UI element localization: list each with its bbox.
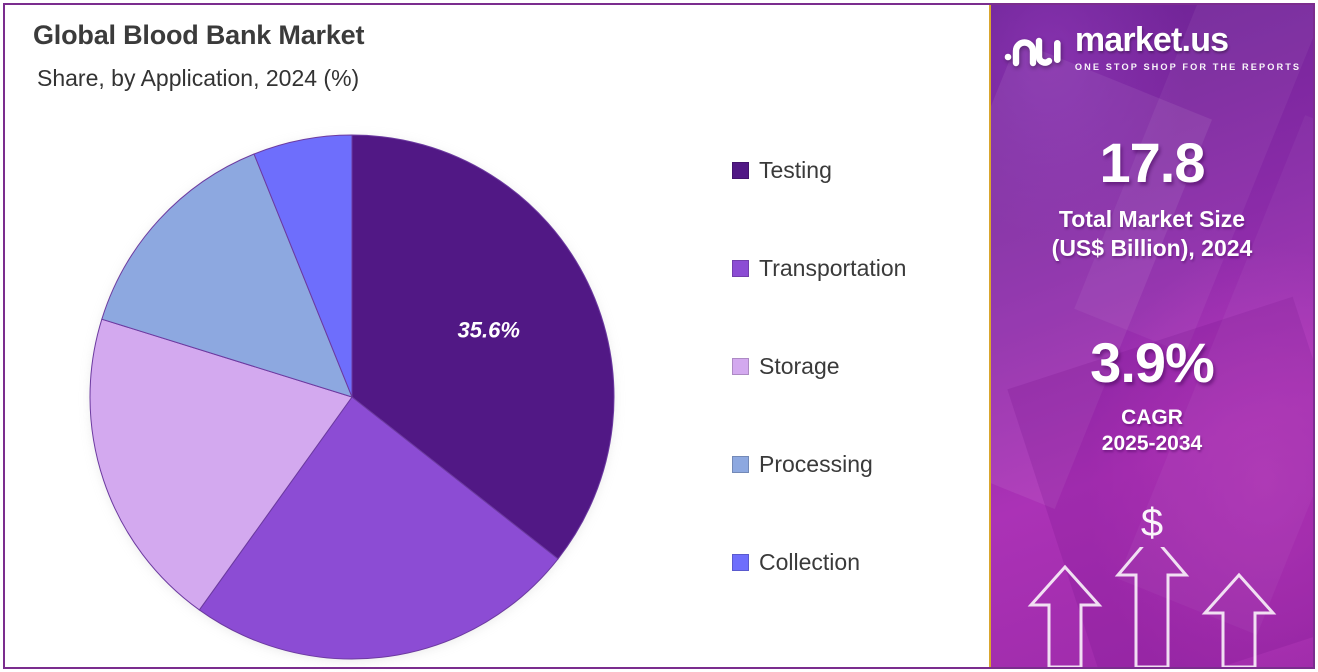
legend-item-storage[interactable]: Storage <box>732 353 982 379</box>
pie-svg: 35.6% <box>88 133 616 661</box>
market-size-caption-line1: Total Market Size <box>991 205 1313 234</box>
legend-swatch-icon <box>732 554 749 571</box>
page-subtitle: Share, by Application, 2024 (%) <box>37 65 733 93</box>
pie-slices <box>90 135 614 659</box>
dollar-sign-icon: $ <box>991 503 1313 543</box>
legend-item-testing[interactable]: Testing <box>732 157 982 183</box>
logo-tagline: ONE STOP SHOP FOR THE REPORTS <box>1075 62 1301 72</box>
market-us-logo[interactable]: market.us ONE STOP SHOP FOR THE REPORTS <box>991 23 1313 72</box>
pie-data-label-testing: 35.6% <box>458 318 520 343</box>
chart-legend: Testing Transportation Storage Processin… <box>732 157 982 647</box>
chart-area: Global Blood Bank Market Share, by Appli… <box>5 5 990 667</box>
pie-data-labels: 35.6% <box>458 318 520 343</box>
growth-arrows-icon <box>991 547 1313 667</box>
cagr-caption-line1: CAGR <box>991 405 1313 431</box>
legend-swatch-icon <box>732 260 749 277</box>
cagr-value: 3.9% <box>991 335 1313 391</box>
market-size-stat: 17.8 Total Market Size (US$ Billion), 20… <box>991 135 1313 263</box>
page-title: Global Blood Bank Market <box>33 19 733 51</box>
title-block: Global Blood Bank Market Share, by Appli… <box>33 19 733 93</box>
legend-swatch-icon <box>732 456 749 473</box>
cagr-caption-line2: 2025-2034 <box>991 431 1313 457</box>
legend-item-transportation[interactable]: Transportation <box>732 255 982 281</box>
legend-label: Processing <box>759 453 873 476</box>
legend-label: Storage <box>759 355 840 378</box>
logo-text: market.us ONE STOP SHOP FOR THE REPORTS <box>1075 23 1301 72</box>
brand-stats-panel: market.us ONE STOP SHOP FOR THE REPORTS … <box>989 5 1313 667</box>
market-size-caption-line2: (US$ Billion), 2024 <box>991 234 1313 263</box>
legend-label: Collection <box>759 551 860 574</box>
logo-wordmark: market.us <box>1075 23 1228 57</box>
infographic-page: Global Blood Bank Market Share, by Appli… <box>0 0 1318 672</box>
pie-chart: 35.6% <box>88 133 616 661</box>
legend-label: Testing <box>759 159 832 182</box>
legend-item-collection[interactable]: Collection <box>732 549 982 575</box>
legend-label: Transportation <box>759 257 906 280</box>
legend-swatch-icon <box>732 358 749 375</box>
market-us-logo-icon <box>1003 27 1065 69</box>
legend-swatch-icon <box>732 162 749 179</box>
legend-item-processing[interactable]: Processing <box>732 451 982 477</box>
cagr-stat: 3.9% CAGR 2025-2034 <box>991 335 1313 458</box>
market-size-value: 17.8 <box>991 135 1313 191</box>
